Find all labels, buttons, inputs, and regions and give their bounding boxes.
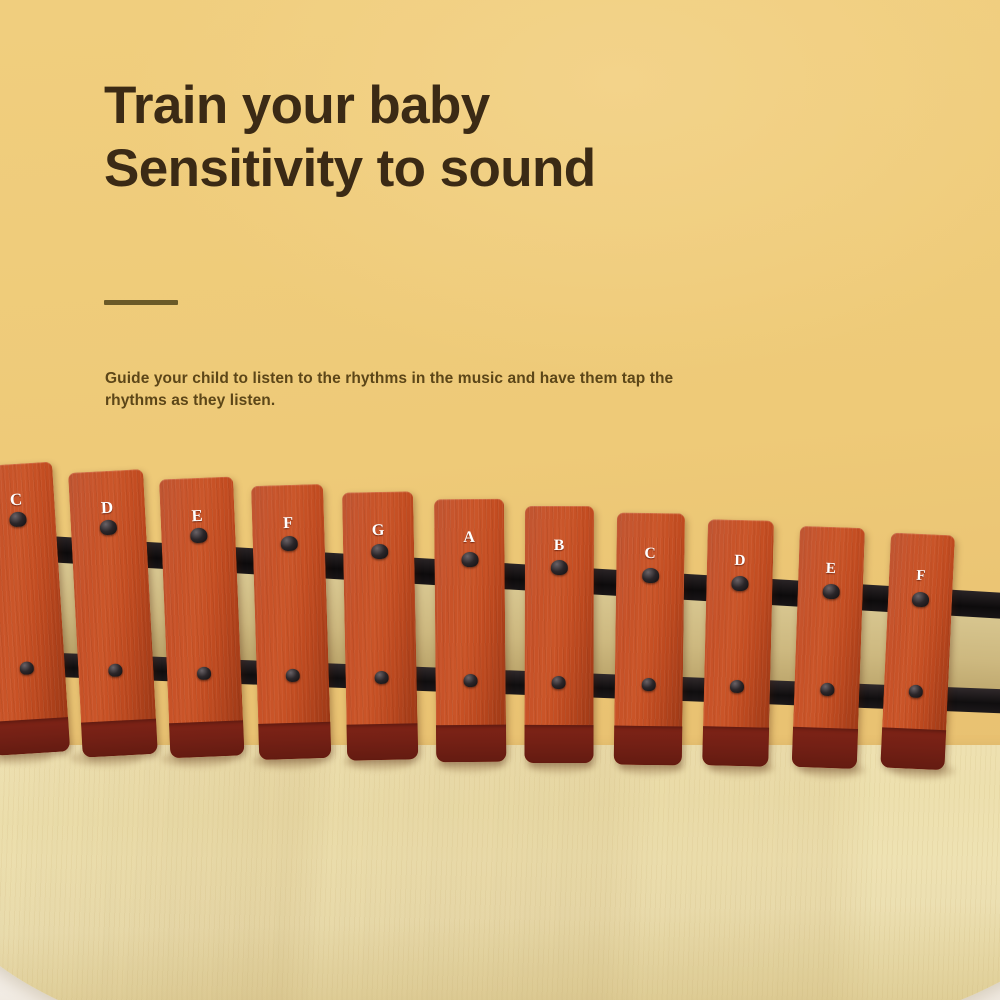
xylophone-bar-e-10[interactable]: E — [791, 526, 864, 769]
bar-peg-top — [461, 552, 478, 567]
page-title: Train your babySensitivity to sound — [104, 78, 784, 196]
note-label: A — [434, 529, 504, 548]
bar-peg-top — [280, 536, 297, 552]
bar-peg-bottom — [819, 682, 833, 695]
note-label: C — [616, 544, 684, 563]
note-label: E — [160, 504, 234, 527]
base-edge-shadow — [0, 860, 1000, 1000]
bar-cut-end — [79, 719, 157, 758]
xylophone-bar-e-3[interactable]: E — [159, 476, 244, 758]
xylophone: CDEFGABCDEF — [0, 440, 1000, 1000]
bar-peg-bottom — [641, 678, 655, 691]
bar-cut-end — [167, 720, 244, 758]
note-label: D — [707, 552, 774, 572]
bar-peg-bottom — [197, 666, 212, 680]
note-label: F — [889, 567, 954, 587]
bar-cut-end — [434, 724, 506, 762]
bar-cut-end — [524, 725, 593, 763]
note-label: D — [69, 496, 145, 520]
bar-peg-top — [99, 519, 117, 535]
bar-peg-top — [732, 576, 749, 591]
bar-peg-bottom — [19, 661, 34, 675]
xylophone-bar-d-9[interactable]: D — [702, 519, 774, 767]
xylophone-bar-d-2[interactable]: D — [68, 469, 157, 757]
bar-cut-end — [345, 723, 419, 761]
note-label: B — [525, 537, 594, 555]
note-label: F — [251, 512, 324, 534]
bar-peg-bottom — [730, 680, 744, 693]
bar-cut-end — [791, 727, 860, 769]
note-label: C — [0, 488, 55, 513]
bar-peg-top — [822, 584, 840, 600]
bar-peg-top — [912, 592, 930, 608]
bar-cut-end — [256, 721, 331, 759]
note-label: G — [343, 520, 415, 540]
xylophone-bar-g-5[interactable]: G — [342, 491, 418, 760]
bar-peg-top — [371, 544, 388, 559]
bar-peg-top — [9, 511, 27, 527]
promo-image: Train your babySensitivity to sound Guid… — [0, 0, 1000, 1000]
xylophone-bar-b-7[interactable]: B — [524, 506, 593, 763]
note-label: E — [798, 559, 864, 579]
xylophone-bar-c-1[interactable]: C — [0, 462, 70, 756]
bar-cut-end — [880, 727, 948, 770]
headline-block: Train your babySensitivity to sound — [104, 78, 784, 196]
subtitle: Guide your child to listen to the rhythm… — [105, 368, 715, 413]
bar-peg-bottom — [108, 664, 123, 678]
bar-peg-top — [551, 560, 568, 575]
xylophone-bar-a-6[interactable]: A — [434, 499, 506, 762]
bar-peg-top — [190, 528, 208, 544]
divider — [104, 300, 178, 305]
bar-cut-end — [613, 726, 683, 765]
bar-peg-top — [641, 568, 658, 583]
xylophone-bar-c-8[interactable]: C — [613, 513, 684, 765]
bar-peg-bottom — [463, 673, 477, 686]
xylophone-bar-f-11[interactable]: F — [880, 533, 955, 771]
headline-line-2: Sensitivity to sound — [104, 141, 784, 196]
headline-line-1: Train your baby — [104, 76, 490, 135]
xylophone-bar-f-4[interactable]: F — [251, 484, 332, 760]
bar-peg-bottom — [285, 669, 299, 682]
bar-peg-bottom — [909, 685, 924, 699]
bar-peg-bottom — [552, 676, 566, 689]
bar-peg-bottom — [374, 671, 388, 684]
bar-cut-end — [0, 717, 70, 756]
bar-cut-end — [702, 726, 771, 766]
